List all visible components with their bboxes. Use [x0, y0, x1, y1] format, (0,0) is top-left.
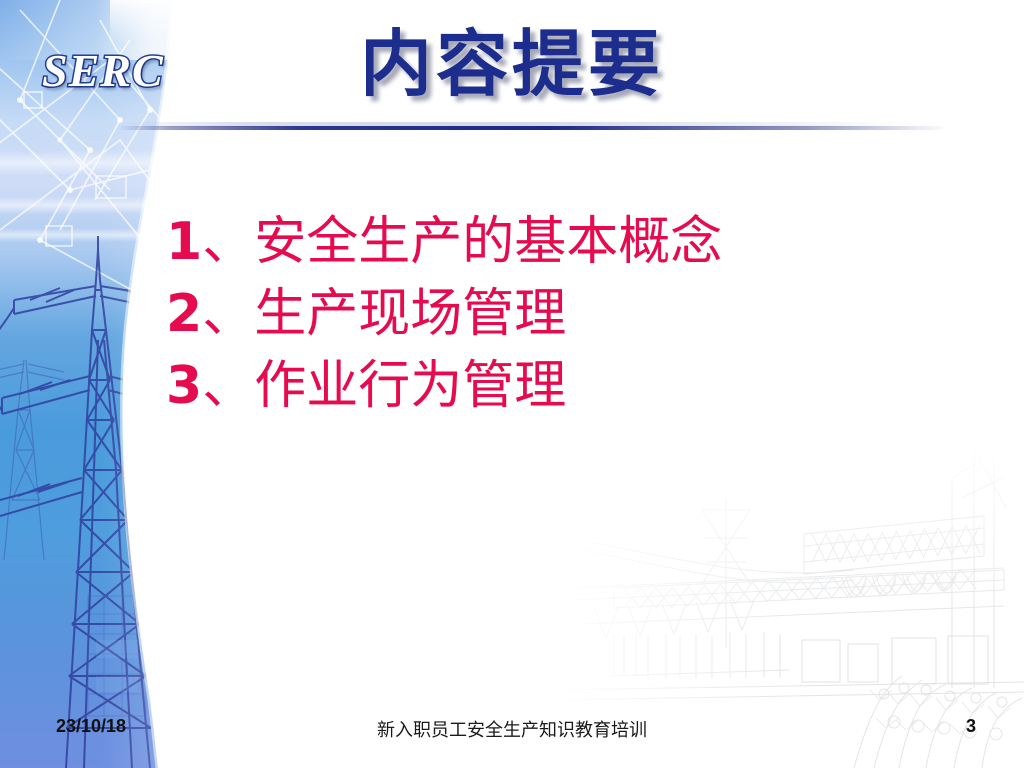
outline-list: 1、安全生产的基本概念 2、生产现场管理 3、作业行为管理	[166, 206, 946, 422]
list-item: 1、安全生产的基本概念	[166, 206, 946, 278]
list-item: 2、生产现场管理	[166, 278, 946, 350]
list-item-number: 2	[166, 278, 202, 350]
page-title: 内容提要	[0, 28, 1024, 100]
list-item-number: 3	[166, 350, 202, 422]
footer-title: 新入职员工安全生产知识教育培训	[0, 716, 1024, 742]
slide-number: 3	[966, 716, 976, 737]
list-item: 3、作业行为管理	[166, 350, 946, 422]
list-item-separator: 、	[202, 212, 254, 272]
list-item-separator: 、	[202, 284, 254, 344]
slide-footer: 23/10/18 新入职员工安全生产知识教育培训 3	[0, 716, 1024, 742]
list-item-number: 1	[166, 206, 202, 278]
title-underline	[118, 126, 948, 130]
list-item-label: 生产现场管理	[254, 284, 566, 344]
presentation-slide: SERC 内容提要 1、安全生产的基本概念 2、生产现场管理 3、作业行为管理 …	[0, 0, 1024, 768]
list-item-label: 安全生产的基本概念	[254, 212, 722, 272]
list-item-label: 作业行为管理	[254, 356, 566, 416]
list-item-separator: 、	[202, 356, 254, 416]
